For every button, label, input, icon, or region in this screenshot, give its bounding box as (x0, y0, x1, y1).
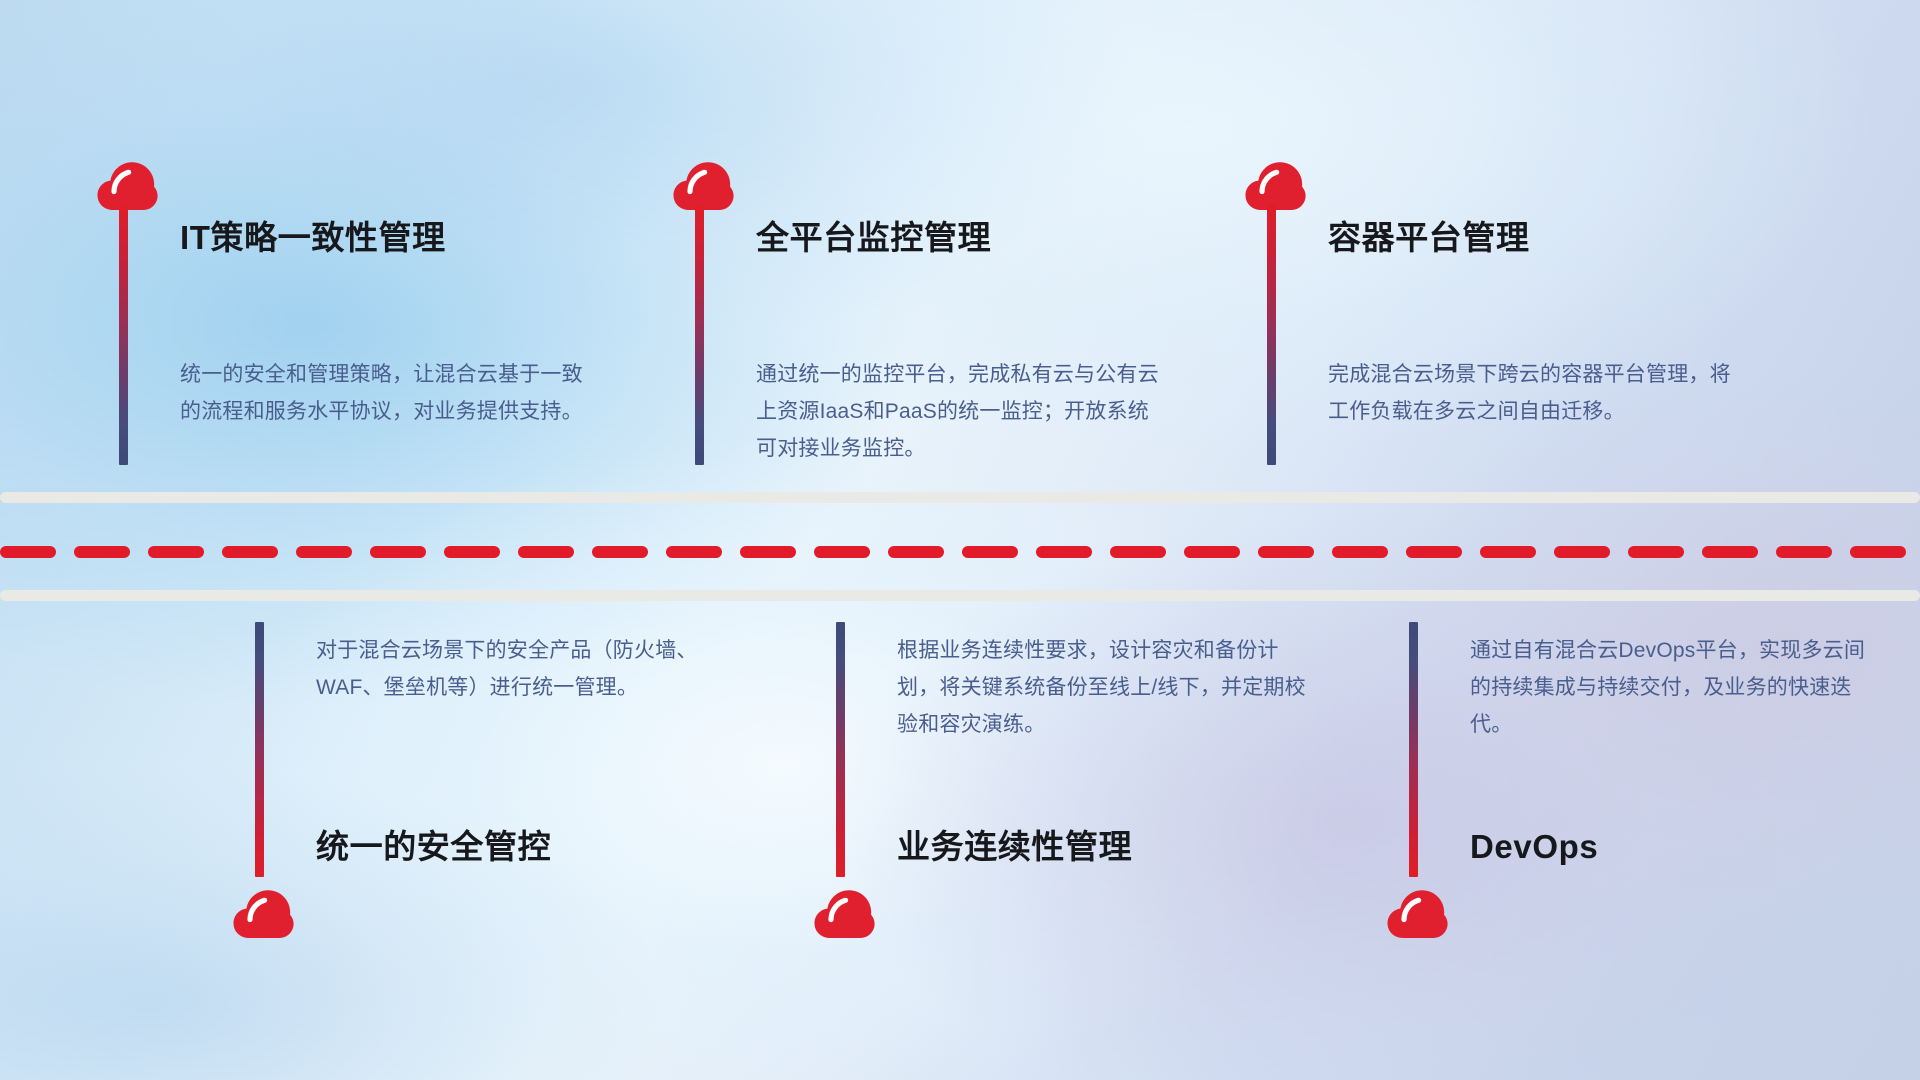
node-description: 通过统一的监控平台，完成私有云与公有云上资源IaaS和PaaS的统一监控；开放系… (756, 356, 1166, 467)
divider-dash (148, 546, 204, 558)
divider-dash (1406, 546, 1462, 558)
divider-dash (1184, 546, 1240, 558)
divider-dash (1554, 546, 1610, 558)
divider-dashed-line (0, 546, 1920, 558)
node-description: 通过自有混合云DevOps平台，实现多云间的持续集成与持续交付，及业务的快速迭代… (1470, 632, 1880, 743)
node-title: 全平台监控管理 (756, 221, 991, 254)
divider-dash (1776, 546, 1832, 558)
divider-dash (740, 546, 796, 558)
node-title: DevOps (1470, 830, 1598, 863)
divider-dash (888, 546, 944, 558)
divider-dash (0, 546, 56, 558)
node-stem (1267, 205, 1276, 465)
divider-dash (444, 546, 500, 558)
divider-dash (1850, 546, 1906, 558)
divider-dash (1258, 546, 1314, 558)
divider-dash (962, 546, 1018, 558)
node-description: 统一的安全和管理策略，让混合云基于一致的流程和服务水平协议，对业务提供支持。 (180, 356, 590, 430)
node-stem (836, 622, 845, 877)
divider-dash (1110, 546, 1166, 558)
divider-dash (222, 546, 278, 558)
divider-dash (814, 546, 870, 558)
node-title: 统一的安全管控 (316, 830, 551, 863)
divider-dash (370, 546, 426, 558)
node-title: IT策略一致性管理 (180, 221, 446, 254)
node-stem (119, 205, 128, 465)
divider-dash (296, 546, 352, 558)
divider-dash (1702, 546, 1758, 558)
divider-dash (592, 546, 648, 558)
cloud-icon (1386, 888, 1448, 940)
node-description: 根据业务连续性要求，设计容灾和备份计划，将关键系统备份至线上/线下，并定期校验和… (897, 632, 1307, 743)
divider-dash (1628, 546, 1684, 558)
divider-solid-line-bottom (0, 590, 1920, 601)
divider-dash (74, 546, 130, 558)
node-stem (695, 205, 704, 465)
divider-dash (666, 546, 722, 558)
divider-solid-line-top (0, 492, 1920, 503)
cloud-icon (232, 888, 294, 940)
node-title: 容器平台管理 (1328, 221, 1530, 254)
node-stem (255, 622, 264, 877)
node-description: 对于混合云场景下的安全产品（防火墙、WAF、堡垒机等）进行统一管理。 (316, 632, 726, 706)
divider-dash (1332, 546, 1388, 558)
divider-dash (518, 546, 574, 558)
node-description: 完成混合云场景下跨云的容器平台管理，将工作负载在多云之间自由迁移。 (1328, 356, 1738, 430)
infographic-canvas: IT策略一致性管理 统一的安全和管理策略，让混合云基于一致的流程和服务水平协议，… (0, 0, 1920, 1080)
divider-dash (1480, 546, 1536, 558)
node-title: 业务连续性管理 (897, 830, 1132, 863)
node-stem (1409, 622, 1418, 877)
divider-dash (1036, 546, 1092, 558)
cloud-icon (813, 888, 875, 940)
